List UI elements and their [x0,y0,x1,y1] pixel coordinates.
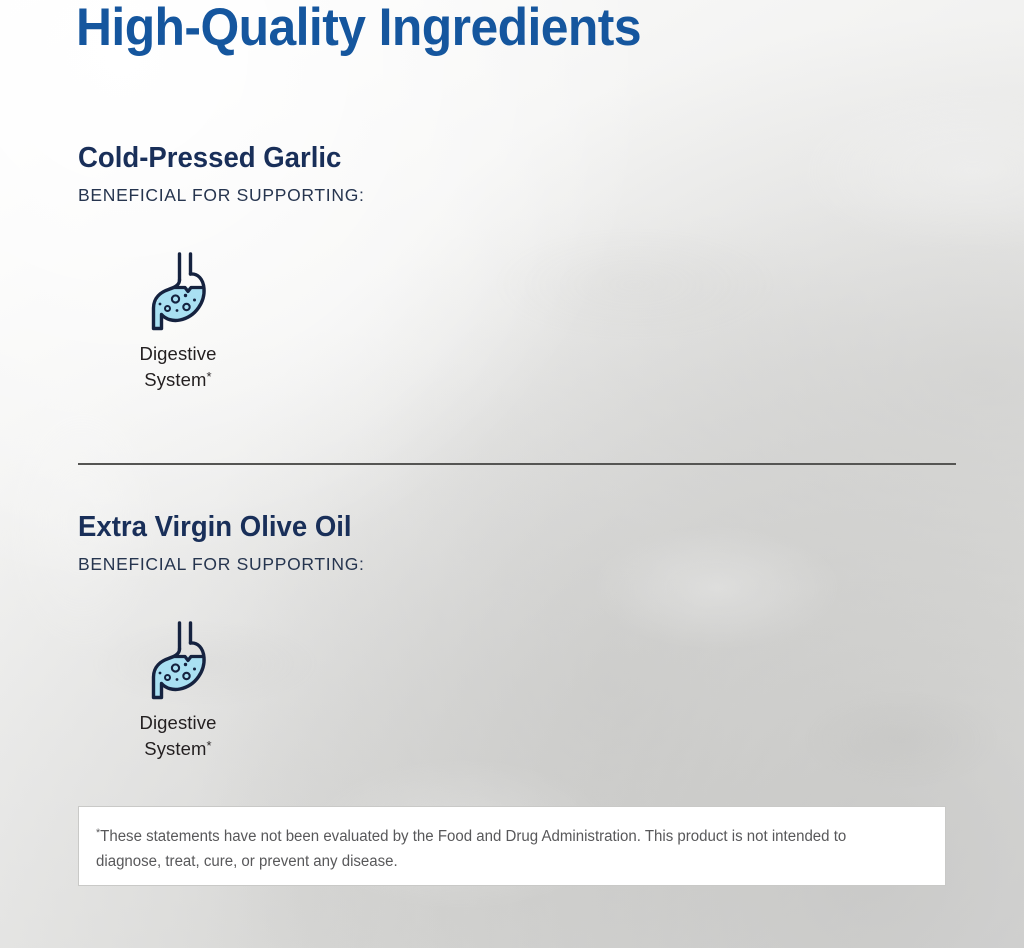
ingredients-page: High-Quality Ingredients Cold-Pressed Ga… [0,0,1024,948]
benefit-item: Digestive System* [118,619,238,760]
benefit-item: Digestive System* [118,250,238,391]
benefit-caption-line2: System [144,738,206,759]
disclaimer-box: *These statements have not been evaluate… [78,806,946,886]
benefit-label: BENEFICIAL FOR SUPPORTING: [78,553,365,575]
footnote-marker: * [207,369,212,384]
disclaimer-body: These statements have not been evaluated… [96,828,846,870]
benefit-caption: Digestive System* [118,342,238,391]
benefit-caption-line1: Digestive [140,712,217,733]
page-title: High-Quality Ingredients [76,0,641,60]
stomach-icon [141,619,215,705]
footnote-marker: * [207,738,212,753]
ingredient-name: Extra Virgin Olive Oil [78,509,352,545]
ingredient-name: Cold-Pressed Garlic [78,140,341,176]
benefit-caption-line2: System [144,369,206,390]
benefit-label: BENEFICIAL FOR SUPPORTING: [78,184,365,206]
stomach-icon [141,250,215,336]
benefit-caption-line1: Digestive [140,343,217,364]
section-divider [78,463,956,465]
disclaimer-text: *These statements have not been evaluate… [96,821,898,874]
benefit-caption: Digestive System* [118,711,238,760]
